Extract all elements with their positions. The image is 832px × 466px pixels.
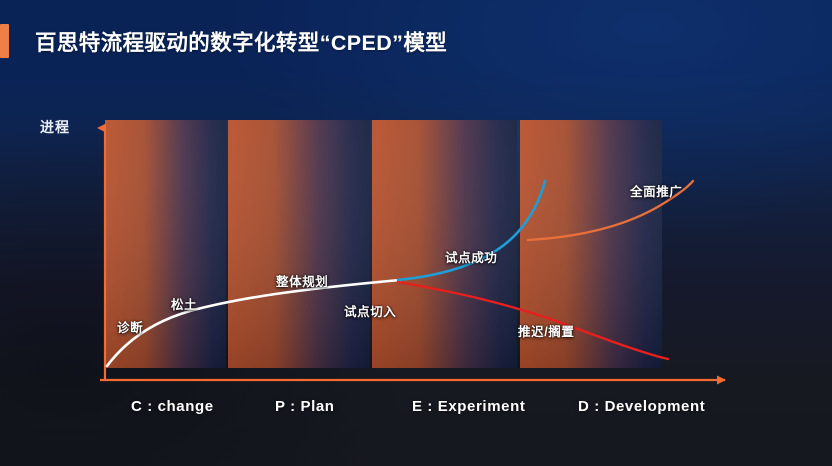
annotation-overall-plan: 整体规划 xyxy=(276,271,328,290)
slide-title-bar: 百思特流程驱动的数字化转型“CPED”模型 xyxy=(0,24,447,58)
slide-canvas: 百思特流程驱动的数字化转型“CPED”模型 进程 xyxy=(0,0,832,466)
annotation-pilot-entry: 试点切入 xyxy=(344,301,396,320)
stage-panels xyxy=(105,120,662,368)
stage-label-change: C : change xyxy=(131,398,214,415)
annotation-full-rollout: 全面推广 xyxy=(630,181,682,200)
stage-label-development: D : Development xyxy=(578,398,705,415)
annotation-diagnosis: 诊断 xyxy=(117,317,143,336)
title-accent-bar xyxy=(0,24,9,58)
annotation-pilot-success: 试点成功 xyxy=(445,247,497,266)
cped-chart xyxy=(0,0,832,466)
stage-label-experiment: E : Experiment xyxy=(412,398,525,415)
annotation-delay-shelve: 推迟/搁置 xyxy=(518,321,574,340)
annotation-loosen-soil: 松土 xyxy=(171,294,197,313)
y-axis-label: 进程 xyxy=(40,117,70,137)
stage-label-plan: P : Plan xyxy=(275,398,335,415)
page-title: 百思特流程驱动的数字化转型“CPED”模型 xyxy=(35,26,447,57)
panel-shade-overlay xyxy=(105,120,662,368)
